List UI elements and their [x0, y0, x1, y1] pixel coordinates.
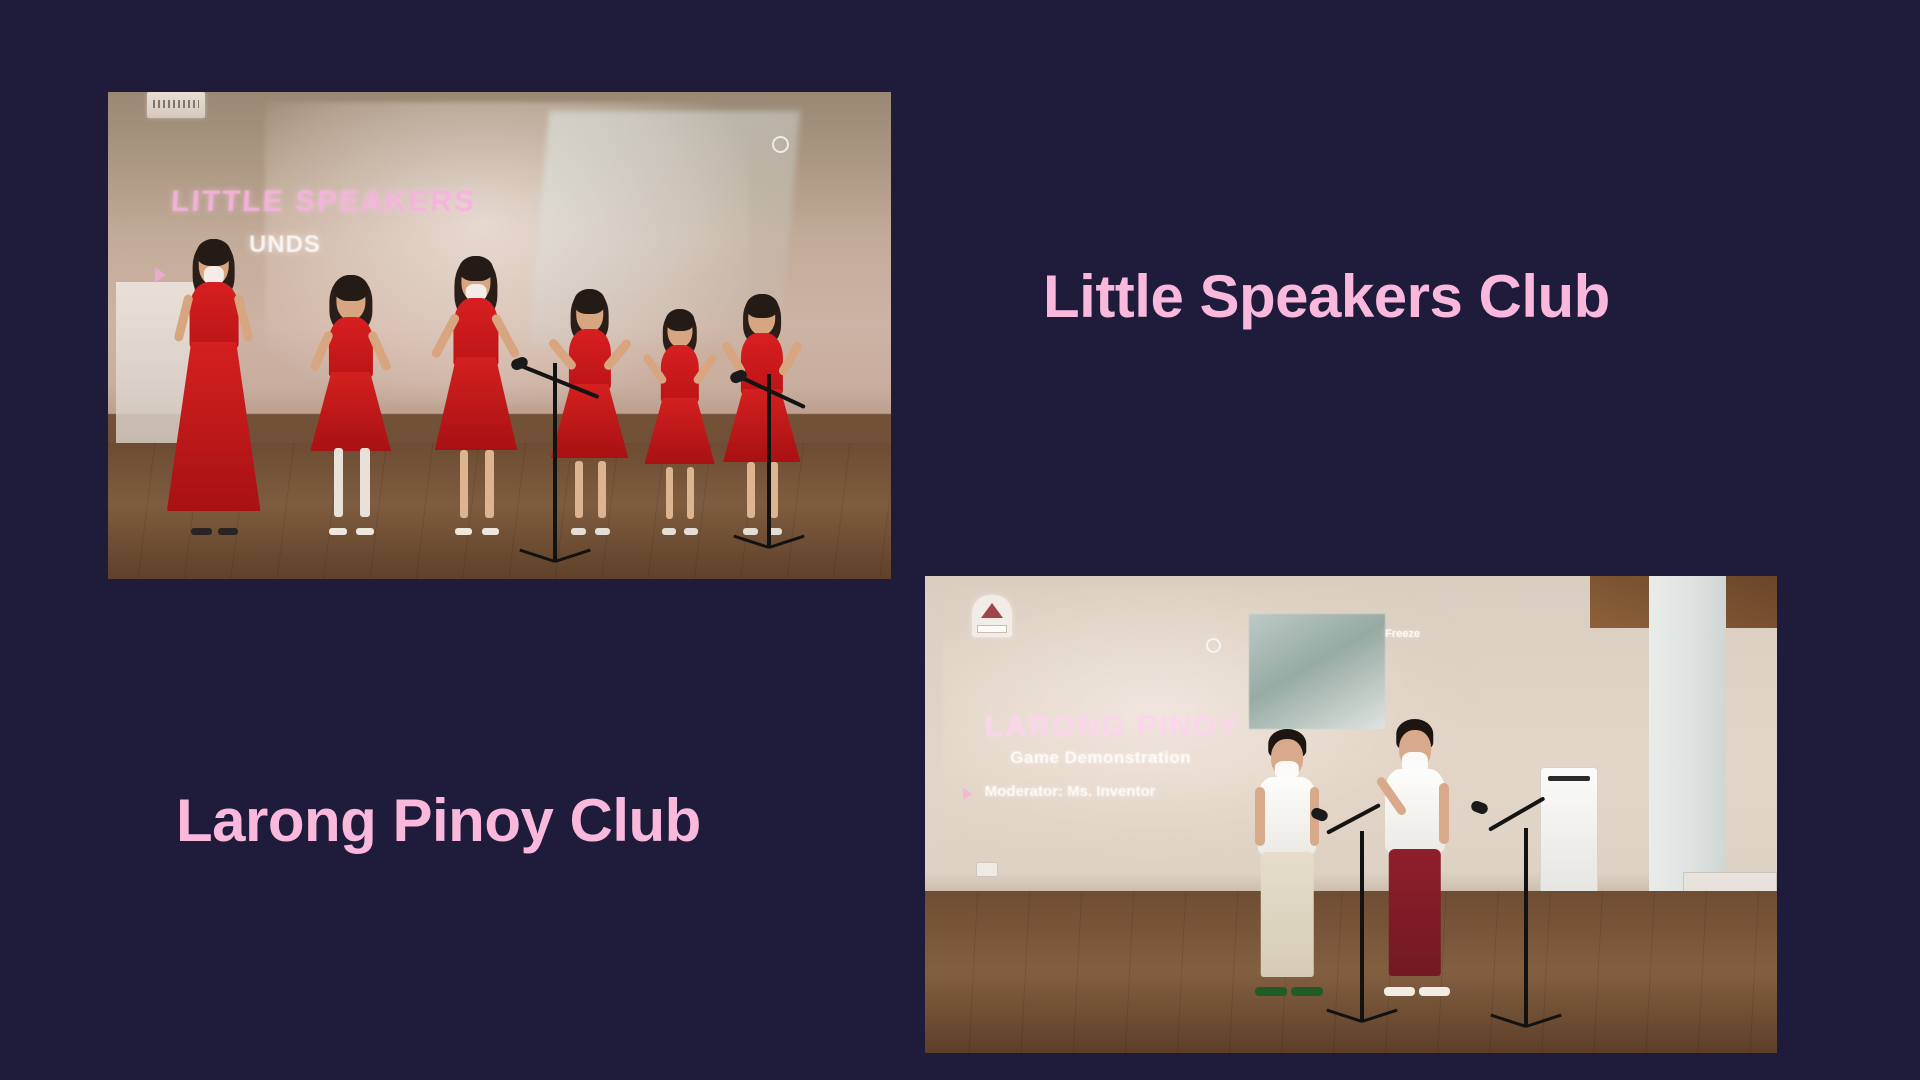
jubilee-logo-icon	[972, 595, 1012, 637]
performer-boy	[1240, 729, 1334, 996]
larong-pinoy-club-title: Larong Pinoy Club	[176, 786, 701, 855]
projected-headline: LITTLE SPEAKERS	[170, 185, 477, 219]
projector-ring-icon	[772, 136, 789, 153]
microphone-stand	[515, 345, 595, 564]
jubilee-logo-icon	[147, 92, 205, 118]
little-speakers-photo: LITTLE SPEAKERS UNDS	[108, 92, 891, 579]
projected-arrow-icon	[963, 788, 972, 800]
microphone-stand	[1487, 800, 1565, 1029]
projected-video-thumb	[1249, 614, 1385, 728]
presentation-slide: LITTLE SPEAKERS UNDS	[0, 0, 1920, 1080]
little-speakers-club-title: Little Speakers Club	[1043, 262, 1610, 331]
wall-socket	[976, 862, 998, 877]
performer-girl	[304, 272, 398, 535]
freeze-label: Freeze	[1385, 628, 1420, 640]
performer-girl	[640, 306, 718, 535]
microphone-stand	[1325, 805, 1399, 1024]
performer-girl	[429, 253, 523, 535]
microphone-stand	[734, 355, 804, 550]
projected-moderator: Moderator: Ms. Inventor	[985, 783, 1156, 800]
projected-headline: LARONG PINOY	[985, 710, 1241, 744]
projected-subline: Game Demonstration	[1010, 748, 1191, 768]
performer-girl	[163, 233, 265, 535]
larong-pinoy-photo: Freeze LARONG PINOY Game Demonstration M…	[925, 576, 1777, 1053]
